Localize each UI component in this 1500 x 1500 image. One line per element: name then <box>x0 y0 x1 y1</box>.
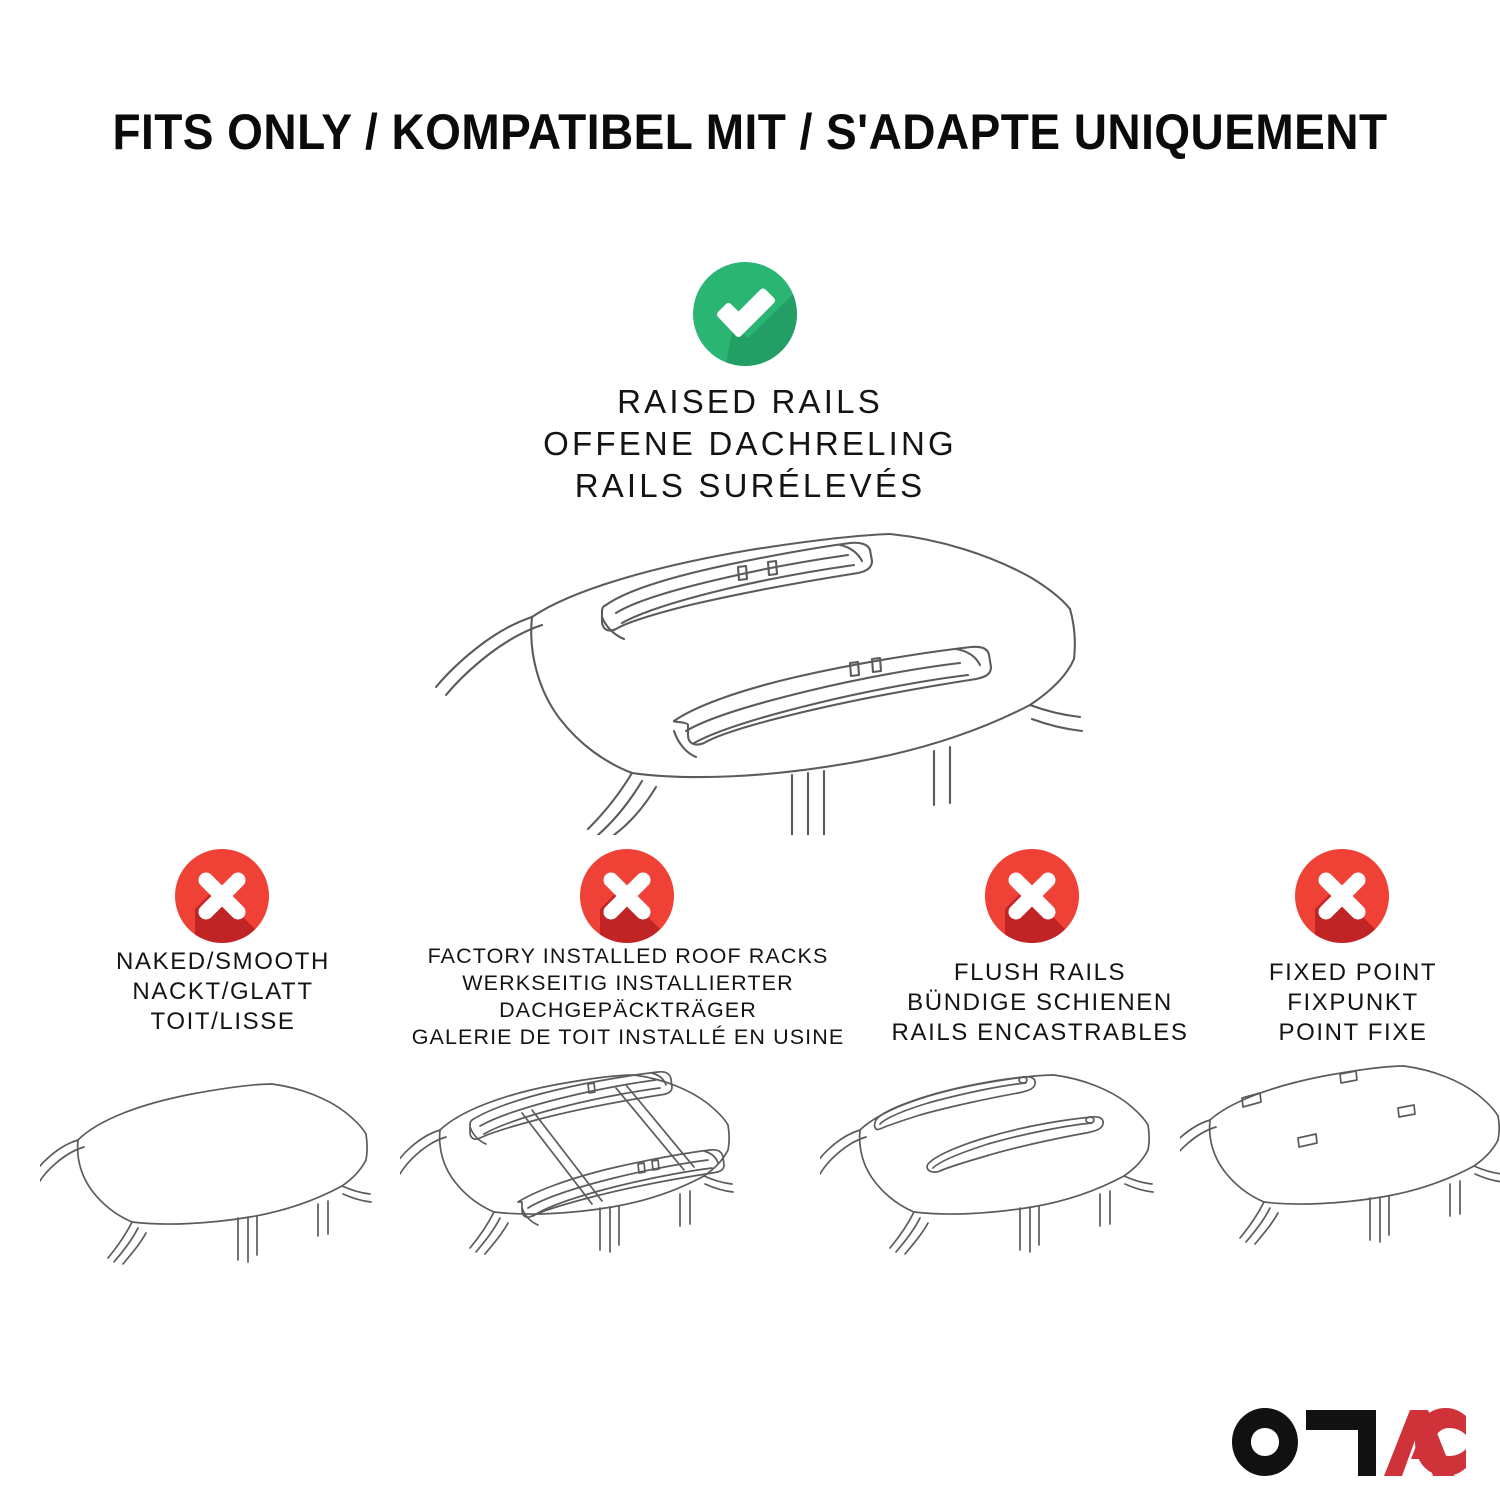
caption-line: FACTORY INSTALLED ROOF RACKS <box>398 943 858 970</box>
compatible-caption-line-1: RAISED RAILS <box>0 381 1500 423</box>
caption-line: RAILS ENCASTRABLES <box>866 1018 1214 1048</box>
caption-line: WERKSEITIG INSTALLIERTER <box>398 970 858 997</box>
caption-line: NAKED/SMOOTH <box>48 947 398 977</box>
caption-line: FIXED POINT <box>1208 958 1498 988</box>
incompatible-caption-fixed-point: FIXED POINT FIXPUNKT POINT FIXE <box>1208 958 1498 1048</box>
car-roof-naked-smooth-illustration <box>40 1060 395 1285</box>
page-title-text: FITS ONLY / KOMPATIBEL MIT / S'ADAPTE UN… <box>112 104 1387 160</box>
incompatible-caption-naked-smooth: NAKED/SMOOTH NACKT/GLATT TOIT/LISSE <box>48 947 398 1037</box>
caption-line: DACHGEPÄCKTRÄGER <box>398 997 858 1024</box>
page-title: FITS ONLY / KOMPATIBEL MIT / S'ADAPTE UN… <box>0 104 1500 160</box>
logo-letter-o <box>1232 1408 1298 1476</box>
red-cross-icon <box>175 849 271 945</box>
green-check-icon <box>692 262 808 378</box>
incompatible-caption-factory-roof-racks: FACTORY INSTALLED ROOF RACKS WERKSEITIG … <box>398 943 858 1051</box>
compatible-caption-line-3: RAILS SURÉLEVÉS <box>0 465 1500 507</box>
caption-line: BÜNDIGE SCHIENEN <box>866 988 1214 1018</box>
red-cross-icon <box>580 849 676 945</box>
caption-line: FLUSH RAILS <box>866 958 1214 988</box>
red-cross-icon <box>985 849 1081 945</box>
car-roof-raised-rails-illustration <box>420 505 1090 835</box>
omac-logo <box>1232 1408 1470 1476</box>
caption-line: NACKT/GLATT <box>48 977 398 1007</box>
car-roof-factory-roof-racks-illustration <box>400 1058 765 1286</box>
incompatible-caption-flush-rails: FLUSH RAILS BÜNDIGE SCHIENEN RAILS ENCAS… <box>866 958 1214 1048</box>
caption-line: TOIT/LISSE <box>48 1007 398 1037</box>
car-roof-fixed-point-illustration <box>1180 1058 1500 1286</box>
compatible-caption: RAISED RAILS OFFENE DACHRELING RAILS SUR… <box>0 381 1500 507</box>
car-roof-flush-rails-illustration <box>820 1058 1180 1286</box>
compatible-caption-line-2: OFFENE DACHRELING <box>0 423 1500 465</box>
caption-line: POINT FIXE <box>1208 1018 1498 1048</box>
caption-line: FIXPUNKT <box>1208 988 1498 1018</box>
caption-line: GALERIE DE TOIT INSTALLÉ EN USINE <box>398 1024 858 1051</box>
red-cross-icon <box>1295 849 1391 945</box>
